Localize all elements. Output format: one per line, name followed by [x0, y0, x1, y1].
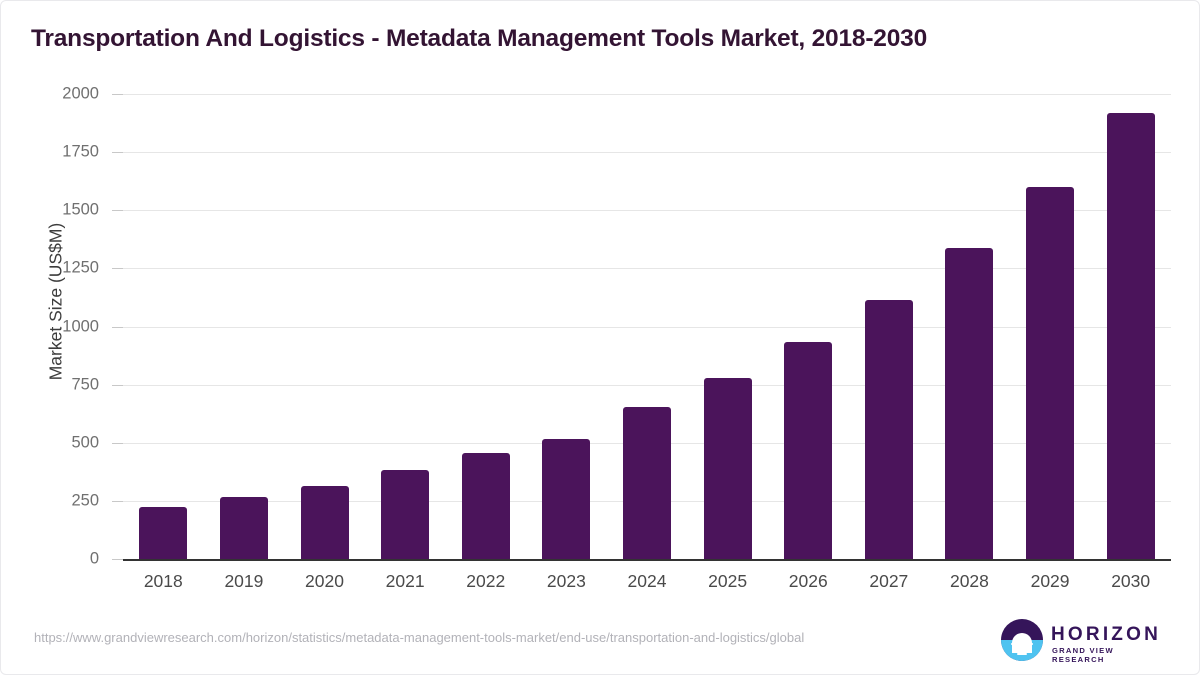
gridline	[123, 210, 1171, 211]
bar-2029[interactable]	[1026, 187, 1074, 559]
y-tick-label: 0	[35, 550, 99, 569]
y-tick-label: 2000	[35, 85, 99, 104]
chart-plot-area: Market Size (US$M) 025050075010001250150…	[1, 1, 1200, 675]
bar-2025[interactable]	[704, 378, 752, 559]
x-tick-label: 2019	[204, 571, 285, 592]
x-axis-line	[123, 559, 1171, 561]
x-tick-label: 2025	[687, 571, 768, 592]
x-tick-label: 2022	[445, 571, 526, 592]
x-tick-label: 2023	[526, 571, 607, 592]
x-tick-label: 2028	[929, 571, 1010, 592]
y-tick-mark	[112, 501, 123, 502]
bar-2020[interactable]	[301, 486, 349, 559]
bar-2022[interactable]	[462, 453, 510, 559]
y-tick-label: 1500	[35, 201, 99, 220]
bar-2018[interactable]	[139, 507, 187, 559]
bar-2023[interactable]	[542, 439, 590, 559]
x-tick-label: 2024	[607, 571, 688, 592]
bar-2028[interactable]	[945, 248, 993, 559]
bar-2024[interactable]	[623, 407, 671, 559]
logo-wordmark: HORIZON	[1051, 624, 1161, 646]
logo-tagline: GRAND VIEW RESEARCH	[1052, 646, 1169, 664]
y-tick-mark	[112, 559, 123, 560]
source-url[interactable]: https://www.grandviewresearch.com/horizo…	[34, 629, 944, 646]
y-tick-label: 1750	[35, 143, 99, 162]
x-tick-label: 2029	[1010, 571, 1091, 592]
chart-screenshot: Transportation And Logistics - Metadata …	[0, 0, 1200, 675]
y-tick-mark	[112, 385, 123, 386]
y-tick-mark	[112, 210, 123, 211]
gridline	[123, 94, 1171, 95]
y-tick-label: 1250	[35, 259, 99, 278]
y-tick-mark	[112, 152, 123, 153]
y-tick-mark	[112, 268, 123, 269]
x-tick-label: 2026	[768, 571, 849, 592]
horizon-logo: HORIZON GRAND VIEW RESEARCH	[989, 617, 1169, 665]
x-tick-label: 2021	[365, 571, 446, 592]
x-tick-label: 2018	[123, 571, 204, 592]
y-tick-label: 750	[35, 375, 99, 394]
gridline	[123, 385, 1171, 386]
y-tick-mark	[112, 94, 123, 95]
y-tick-mark	[112, 443, 123, 444]
gridline	[123, 268, 1171, 269]
y-tick-label: 250	[35, 491, 99, 510]
y-tick-label: 500	[35, 433, 99, 452]
horizon-sun-circle-icon	[1001, 619, 1043, 661]
bar-2030[interactable]	[1107, 113, 1155, 559]
y-tick-mark	[112, 327, 123, 328]
y-tick-label: 1000	[35, 317, 99, 336]
bar-2021[interactable]	[381, 470, 429, 559]
x-tick-label: 2020	[284, 571, 365, 592]
bar-2026[interactable]	[784, 342, 832, 559]
x-tick-label: 2027	[849, 571, 930, 592]
bar-2019[interactable]	[220, 497, 268, 559]
gridline	[123, 327, 1171, 328]
gridline	[123, 152, 1171, 153]
bar-2027[interactable]	[865, 300, 913, 559]
x-tick-label: 2030	[1090, 571, 1171, 592]
